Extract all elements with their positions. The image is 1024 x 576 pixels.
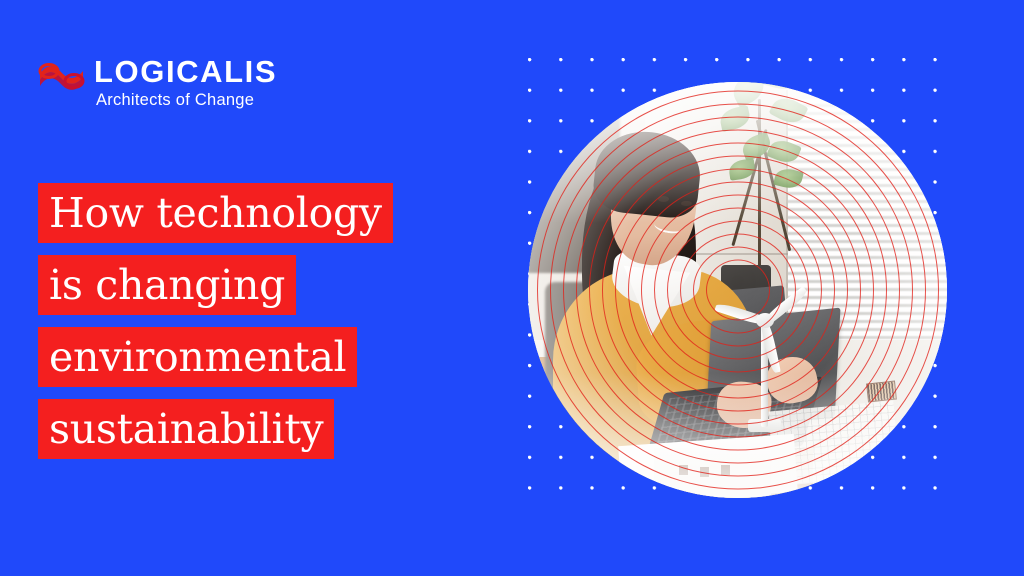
slide-canvas: LOGICALIS Architects of Change How techn… [0, 0, 1024, 576]
headline-line-4: sustainability [38, 399, 334, 459]
scene-plant [687, 82, 838, 290]
scene-architecture-model [654, 448, 771, 498]
wind-turbine-hub [756, 313, 774, 328]
hero-photo-scene [528, 82, 947, 498]
logicalis-logo[interactable]: LOGICALIS Architects of Change [38, 55, 308, 117]
headline-block: How technology is changing environmental… [38, 183, 478, 459]
scene-model-window [679, 465, 688, 475]
logo-wordmark: LOGICALIS [94, 55, 277, 89]
scene-chip-object [866, 380, 897, 402]
scene-model-window [700, 467, 709, 477]
headline-line-1: How technology [38, 183, 393, 243]
logicalis-wave-mark [38, 61, 86, 91]
headline-line-2: is changing [38, 255, 296, 315]
hero-photo-circle [528, 82, 947, 498]
headline-line: How technology [38, 183, 478, 243]
headline-line: sustainability [38, 399, 478, 459]
scene-model-window [721, 465, 730, 475]
headline-line: is changing [38, 255, 478, 315]
logo-tagline: Architects of Change [96, 90, 254, 110]
headline-line: environmental [38, 327, 478, 387]
headline-line-3: environmental [38, 327, 357, 387]
